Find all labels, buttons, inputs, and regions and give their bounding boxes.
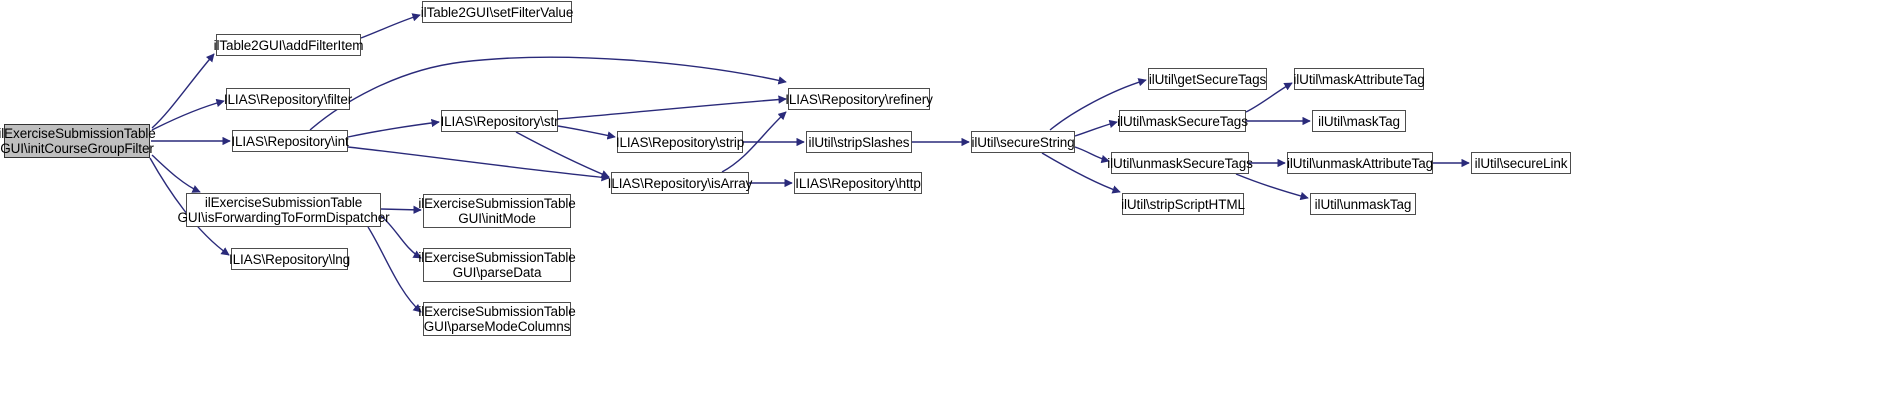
graph-node-n24[interactable]: ilUtil\unmaskTag <box>1310 193 1416 215</box>
graph-node-n8[interactable]: ILIAS\Repository\strip <box>617 131 743 153</box>
graph-node-n19[interactable]: ilUtil\unmaskSecureTags <box>1111 152 1249 174</box>
call-edge-n4-to-n7 <box>348 122 439 137</box>
graph-node-n20[interactable]: ilUtil\stripScriptHTML <box>1122 193 1244 215</box>
graph-node-n4[interactable]: ILIAS\Repository\int <box>232 130 348 152</box>
graph-node-n21[interactable]: ilUtil\maskAttributeTag <box>1294 68 1424 90</box>
graph-node-n17[interactable]: ilUtil\getSecureTags <box>1148 68 1267 90</box>
graph-node-n10[interactable]: ILIAS\Repository\refinery <box>788 88 930 110</box>
graph-node-n22[interactable]: ilUtil\maskTag <box>1312 110 1406 132</box>
call-edge-n19-to-n24 <box>1236 174 1308 198</box>
graph-node-n2[interactable]: ilTable2GUI\setFilterValue <box>422 1 572 23</box>
call-edge-n0-to-n3 <box>152 101 224 130</box>
graph-node-n14[interactable]: ilExerciseSubmissionTable GUI\parseData <box>423 248 571 282</box>
graph-node-n0: ilExerciseSubmissionTable GUI\initCourse… <box>4 124 150 158</box>
call-edge-n16-to-n18 <box>1075 122 1117 136</box>
call-graph-canvas: ilExerciseSubmissionTable GUI\initCourse… <box>0 0 1897 411</box>
graph-node-n6[interactable]: ILIAS\Repository\lng <box>231 248 348 270</box>
call-edge-n1-to-n2 <box>361 15 420 38</box>
call-edge-n7-to-n8 <box>558 126 615 137</box>
call-edge-n5-to-n15 <box>368 227 421 312</box>
graph-node-n1[interactable]: ilTable2GUI\addFilterItem <box>216 34 361 56</box>
call-edge-n4-to-n9 <box>348 147 609 178</box>
call-edge-n0-to-n1 <box>152 54 214 128</box>
graph-node-n11[interactable]: ilUtil\stripSlashes <box>806 131 912 153</box>
graph-node-n18[interactable]: ilUtil\maskSecureTags <box>1119 110 1246 132</box>
graph-node-n12[interactable]: ILIAS\Repository\http <box>794 172 922 194</box>
call-edge-n0-to-n5 <box>152 155 200 192</box>
call-edge-n7-to-n10 <box>558 99 786 119</box>
graph-node-n5[interactable]: ilExerciseSubmissionTable GUI\isForwardi… <box>186 193 381 227</box>
graph-node-n16[interactable]: ilUtil\secureString <box>971 131 1075 153</box>
graph-node-n23[interactable]: ilUtil\unmaskAttributeTag <box>1287 152 1433 174</box>
call-edge-n7-to-n9 <box>516 132 609 177</box>
graph-node-n7[interactable]: ILIAS\Repository\str <box>441 110 558 132</box>
graph-node-n15[interactable]: ilExerciseSubmissionTable GUI\parseModeC… <box>423 302 571 336</box>
call-edge-n16-to-n19 <box>1075 147 1109 161</box>
graph-node-n25[interactable]: ilUtil\secureLink <box>1471 152 1571 174</box>
graph-node-n9[interactable]: ILIAS\Repository\isArray <box>611 172 749 194</box>
graph-node-n3[interactable]: ILIAS\Repository\filter <box>226 88 350 110</box>
graph-node-n13[interactable]: ilExerciseSubmissionTable GUI\initMode <box>423 194 571 228</box>
